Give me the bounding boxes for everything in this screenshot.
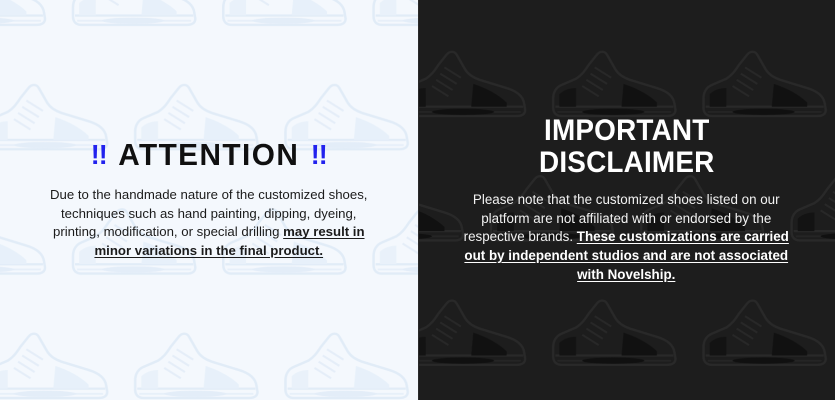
disclaimer-heading: IMPORTANT DISCLAIMER <box>445 115 807 177</box>
disclaimer-content: IMPORTANT DISCLAIMER Please note that th… <box>418 115 835 284</box>
attention-panel: !!ATTENTION!! Due to the handmade nature… <box>0 0 418 400</box>
double-exclamation-icon-left: !! <box>91 140 107 169</box>
disclaimer-heading-line2: DISCLAIMER <box>445 147 807 178</box>
attention-content: !!ATTENTION!! Due to the handmade nature… <box>0 139 418 260</box>
disclaimer-heading-line1: IMPORTANT <box>445 115 807 146</box>
attention-title: ATTENTION <box>118 139 299 172</box>
disclaimer-body: Please note that the customized shoes li… <box>461 191 791 285</box>
disclaimer-banner: !!ATTENTION!! Due to the handmade nature… <box>0 0 835 400</box>
panel-divider <box>418 0 419 400</box>
attention-body: Due to the handmade nature of the custom… <box>49 186 369 261</box>
attention-heading: !!ATTENTION!! <box>22 139 396 172</box>
double-exclamation-icon-right: !! <box>311 140 327 169</box>
disclaimer-panel: IMPORTANT DISCLAIMER Please note that th… <box>418 0 835 400</box>
